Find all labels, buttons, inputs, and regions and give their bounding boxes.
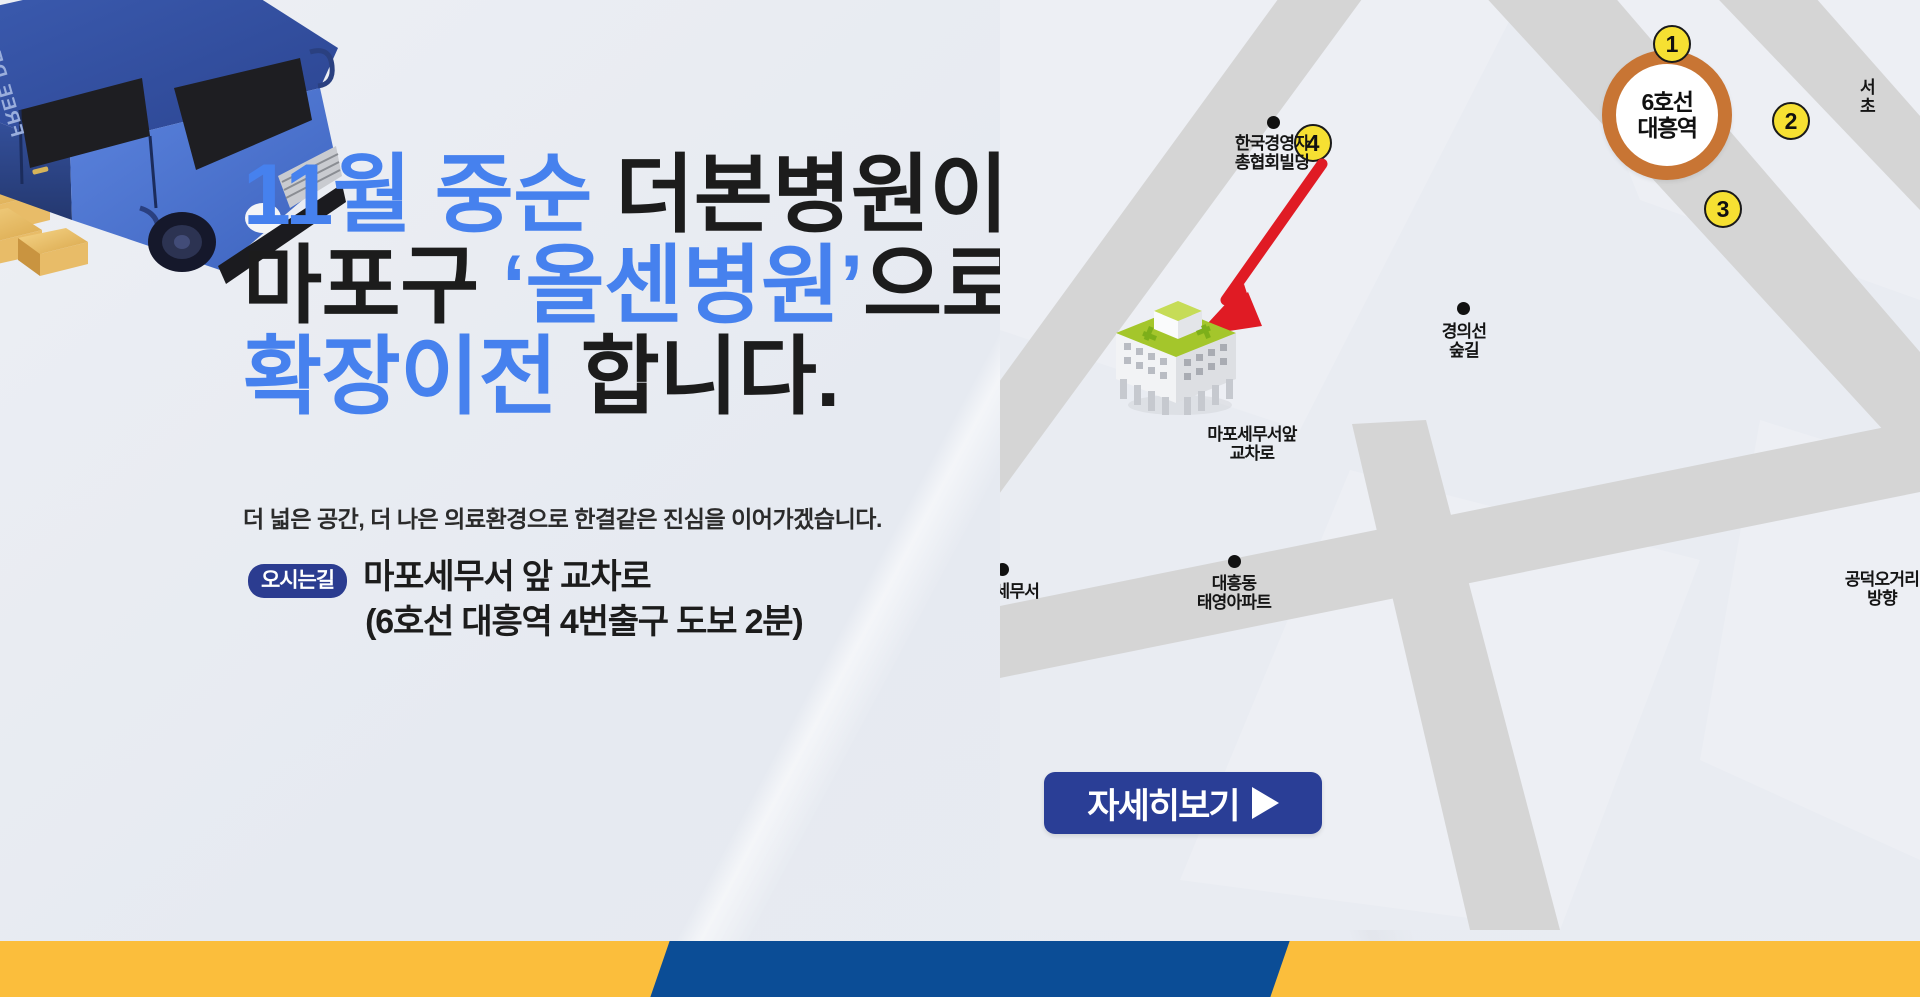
headline-line-3: 확장이전 합니다. (243, 332, 1043, 423)
map-dot-kef (1267, 116, 1280, 129)
directions-line-2: (6호선 대흥역 4번출구 도보 2분) (363, 600, 802, 645)
headline-line-1-blue: 11월 중순 (243, 147, 592, 243)
promo-banner: FREE DELIVERY 11월 중순 더본병원이 마포구 ‘올센병원’으로 … (0, 0, 1920, 997)
hospital-building-icon[interactable] (1108, 285, 1258, 420)
map-label-gongdeok-direction: 공덕오거리 방향 (1812, 570, 1920, 609)
map-dot-gyeongui (1457, 302, 1470, 315)
sub-copy: 더 넓은 공간, 더 나은 의료환경으로 한결같은 진심을 이어가겠습니다. (243, 500, 882, 534)
headline: 11월 중순 더본병원이 마포구 ‘올센병원’으로 확장이전 합니다. (243, 150, 1043, 423)
headline-line-2: 마포구 ‘올센병원’으로 (243, 241, 1043, 332)
detail-view-button-label: 자세히보기 (1087, 778, 1238, 829)
headline-line-2-dark-b: 으로 (863, 238, 1020, 334)
directions-badge: 오시는길 (248, 564, 347, 598)
map-label-mapo-tax-intersection: 마포세무서앞 교차로 (1152, 425, 1352, 464)
detail-view-button[interactable]: 자세히보기 (1044, 772, 1322, 834)
map-label-gyeongui-forest: 경의선 숲길 (1384, 322, 1544, 361)
play-triangle-icon (1252, 787, 1279, 819)
map-label-kef-building: 한국경영자 총협회빌딩 (1182, 134, 1362, 173)
map-label-mapo-tax-office: 마포세무서 (1000, 582, 1082, 601)
map-label-daeheung-taeyoung-apt: 대흥동 태영아파트 (1154, 574, 1314, 613)
map-label-seocho-direction: 서 초 (1860, 78, 1920, 117)
headline-line-2-blue: ‘올센병원’ (502, 238, 863, 334)
bottom-stripe-blue-shape (650, 941, 1289, 997)
headline-block: 11월 중순 더본병원이 마포구 ‘올센병원’으로 확장이전 합니다. (243, 150, 1043, 423)
headline-line-2-dark-a: 마포구 (243, 238, 502, 334)
bottom-stripe-blue-wrap (0, 941, 1920, 997)
headline-line-3-blue: 확장이전 (243, 329, 557, 425)
directions-block: 오시는길 마포세무서 앞 교차로 (6호선 대흥역 4번출구 도보 2분) (248, 555, 803, 645)
van-wheel (148, 212, 216, 272)
directions-line-1: 마포세무서 앞 교차로 (363, 555, 802, 600)
headline-line-3-dark: 합니다. (557, 329, 839, 425)
map-dot-daeheung-apt (1228, 555, 1241, 568)
directions-text: 마포세무서 앞 교차로 (6호선 대흥역 4번출구 도보 2분) (363, 555, 802, 645)
headline-line-1: 11월 중순 더본병원이 (243, 150, 1043, 241)
headline-line-1-dark: 더본병원이 (592, 147, 1008, 243)
